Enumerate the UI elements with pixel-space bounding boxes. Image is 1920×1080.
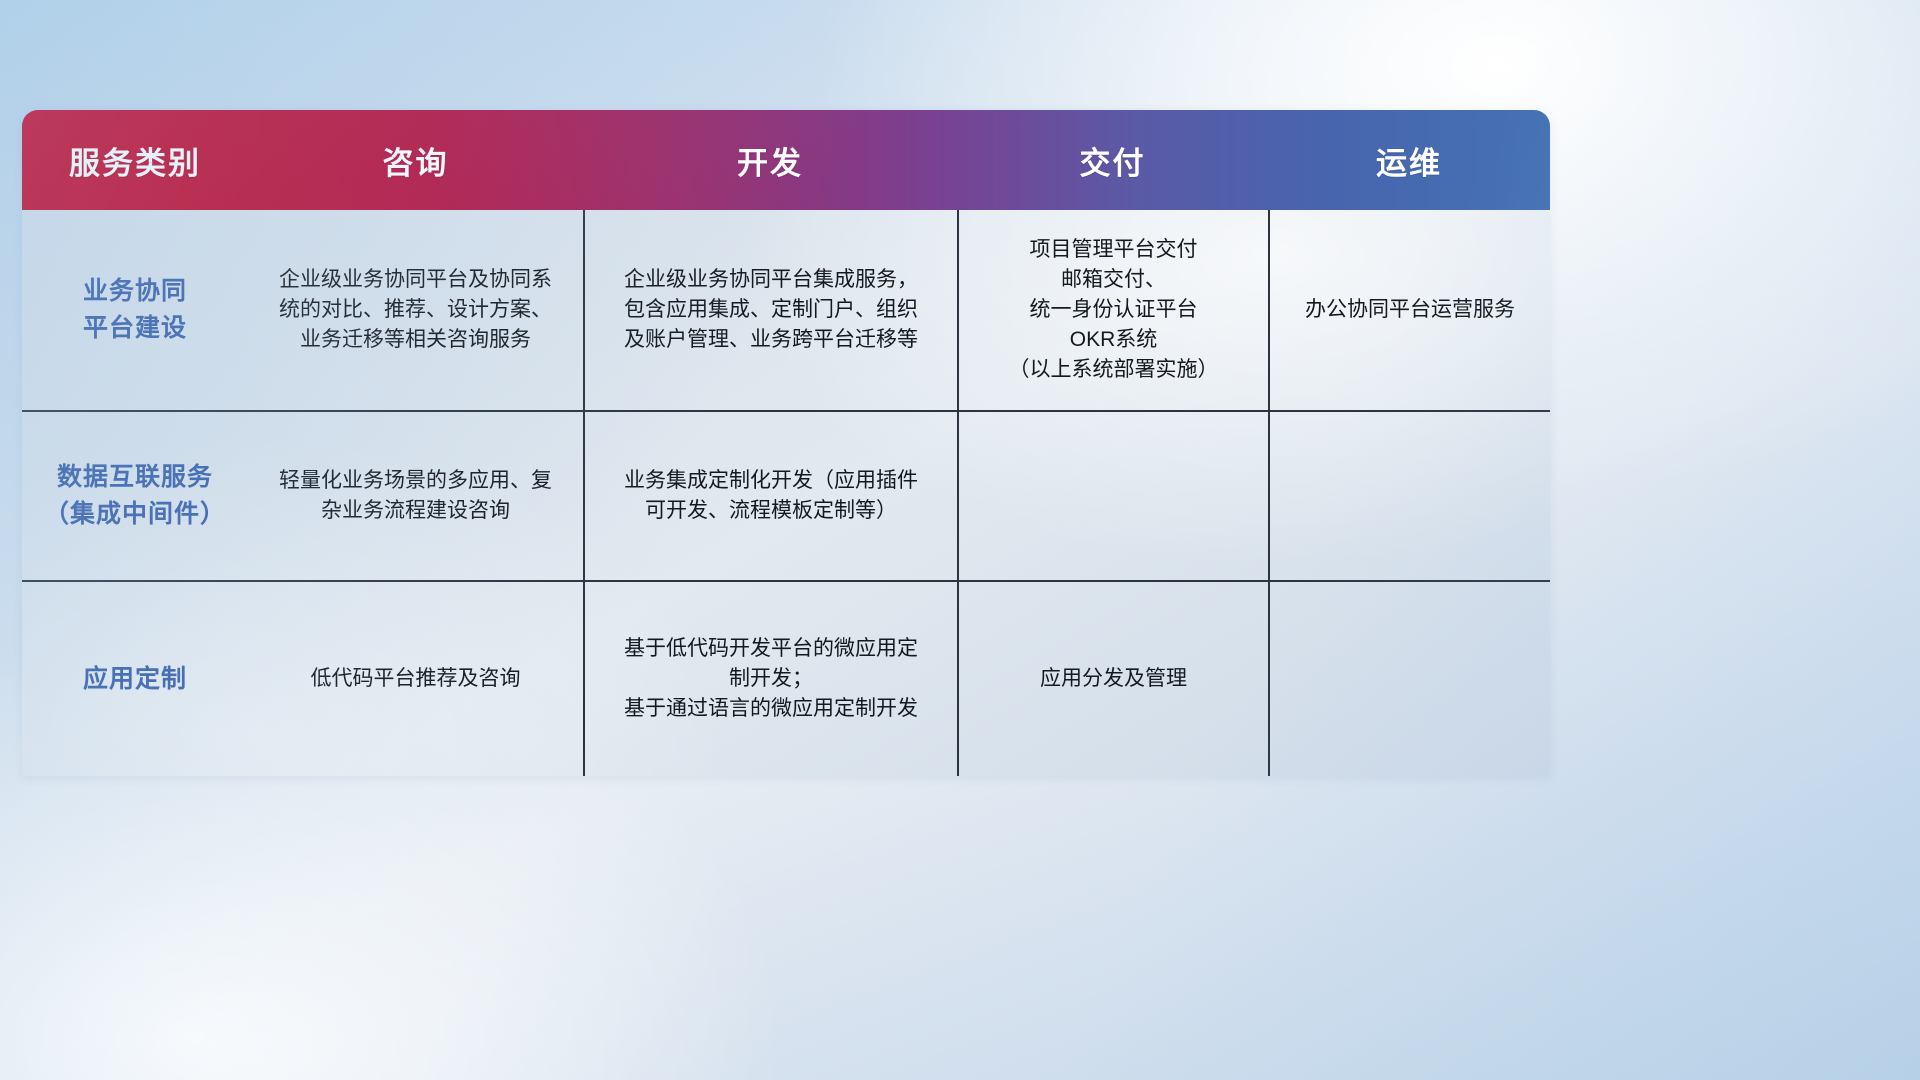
cell-delivery [957, 412, 1268, 580]
column-header-delivery: 交付 [957, 138, 1268, 183]
cell-consulting: 企业级业务协同平台及协同系 统的对比、推荐、设计方案、 业务迁移等相关咨询服务 [248, 210, 583, 410]
row-category-label: 应用定制 [22, 582, 248, 776]
column-header-consulting: 咨询 [248, 138, 583, 183]
cell-consulting: 轻量化业务场景的多应用、复 杂业务流程建设咨询 [248, 412, 583, 580]
table-row: 业务协同 平台建设 企业级业务协同平台及协同系 统的对比、推荐、设计方案、 业务… [22, 210, 1550, 410]
row-category-label: 业务协同 平台建设 [22, 210, 248, 410]
column-header-operations: 运维 [1268, 138, 1550, 183]
cell-operations [1268, 582, 1550, 776]
table-header-row: 服务类别 咨询 开发 交付 运维 [22, 110, 1550, 210]
service-matrix-table: 服务类别 咨询 开发 交付 运维 业务协同 平台建设 企业级业务协同平台及协同系… [22, 110, 1550, 776]
column-header-service-category: 服务类别 [22, 138, 248, 183]
cell-operations: 办公协同平台运营服务 [1268, 210, 1550, 410]
table-row: 数据互联服务 （集成中间件） 轻量化业务场景的多应用、复 杂业务流程建设咨询 业… [22, 410, 1550, 580]
cell-development: 基于低代码开发平台的微应用定 制开发； 基于通过语言的微应用定制开发 [583, 582, 957, 776]
cell-operations [1268, 412, 1550, 580]
cell-consulting: 低代码平台推荐及咨询 [248, 582, 583, 776]
row-category-label: 数据互联服务 （集成中间件） [22, 412, 248, 580]
cell-delivery: 应用分发及管理 [957, 582, 1268, 776]
cell-development: 企业级业务协同平台集成服务， 包含应用集成、定制门户、组织 及账户管理、业务跨平… [583, 210, 957, 410]
cell-delivery: 项目管理平台交付 邮箱交付、 统一身份认证平台 OKR系统 （以上系统部署实施） [957, 210, 1268, 410]
column-header-development: 开发 [583, 138, 957, 183]
table-row: 应用定制 低代码平台推荐及咨询 基于低代码开发平台的微应用定 制开发； 基于通过… [22, 580, 1550, 776]
page-background: { "theme": { "header_gradient_start": "#… [0, 0, 1920, 1080]
table-body: 业务协同 平台建设 企业级业务协同平台及协同系 统的对比、推荐、设计方案、 业务… [22, 210, 1550, 776]
cell-development: 业务集成定制化开发（应用插件 可开发、流程模板定制等） [583, 412, 957, 580]
